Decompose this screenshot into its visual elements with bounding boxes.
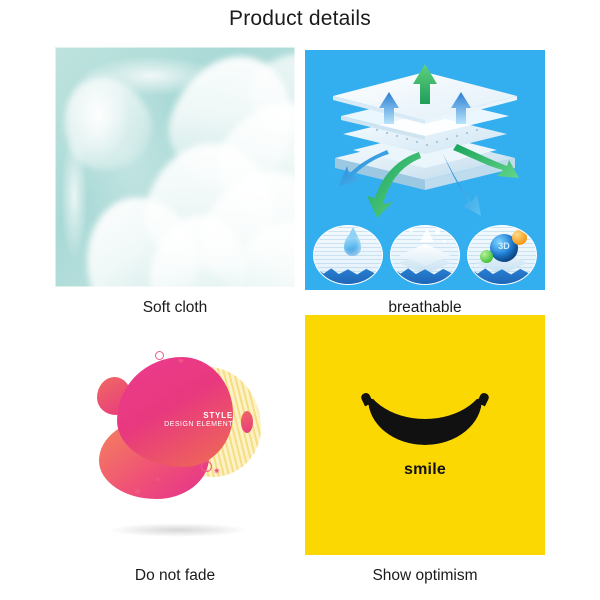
blob-shadow: [107, 523, 249, 537]
product-detail-cell-show-optimism[interactable]: smile Show optimism: [305, 315, 545, 585]
water-repellent-icon: [313, 225, 383, 285]
fabric-layers-icon: [327, 62, 523, 220]
caption-show-optimism: Show optimism: [305, 567, 545, 585]
product-details-page: Product details Soft cloth: [0, 0, 600, 600]
page-title: Product details: [0, 7, 600, 31]
circle-outline-decoration: [155, 351, 164, 360]
breathable-diagram[interactable]: [305, 50, 545, 290]
design-element-graphic[interactable]: ✷ ✷ ✷ ✷ STYLE DESIGN ELEMENT: [55, 315, 295, 555]
smile-composition: smile: [305, 399, 545, 479]
product-detail-cell-breathable[interactable]: breathable: [305, 50, 545, 317]
breathable-layer-icon: [390, 225, 460, 285]
three-d-fiber-icon: [467, 225, 537, 285]
sparkle-icon: ✷: [177, 357, 185, 366]
smile-word: smile: [305, 461, 545, 479]
blob-overlay-title: STYLE: [145, 411, 233, 421]
sparkle-icon: ✷: [133, 487, 142, 498]
breathable-feature-icons: [313, 226, 537, 284]
smile-graphic[interactable]: smile: [305, 315, 545, 555]
blob-overlay-text: STYLE DESIGN ELEMENT: [145, 411, 233, 429]
sparkle-icon: ✷: [213, 467, 221, 476]
blob-accent-shape: [241, 411, 253, 433]
product-detail-cell-soft-cloth[interactable]: Soft cloth: [55, 47, 295, 317]
circle-outline-decoration: [201, 461, 212, 472]
sparkle-icon: ✷: [155, 477, 161, 484]
smile-curve-icon: [362, 399, 488, 445]
blob-overlay-subtitle: DESIGN ELEMENT: [145, 421, 233, 430]
feather-haze-overlay: [55, 47, 295, 287]
caption-do-not-fade: Do not fade: [55, 567, 295, 585]
feather-photo[interactable]: [55, 47, 295, 287]
product-detail-cell-do-not-fade[interactable]: ✷ ✷ ✷ ✷ STYLE DESIGN ELEMENT Do not fade: [55, 315, 295, 585]
